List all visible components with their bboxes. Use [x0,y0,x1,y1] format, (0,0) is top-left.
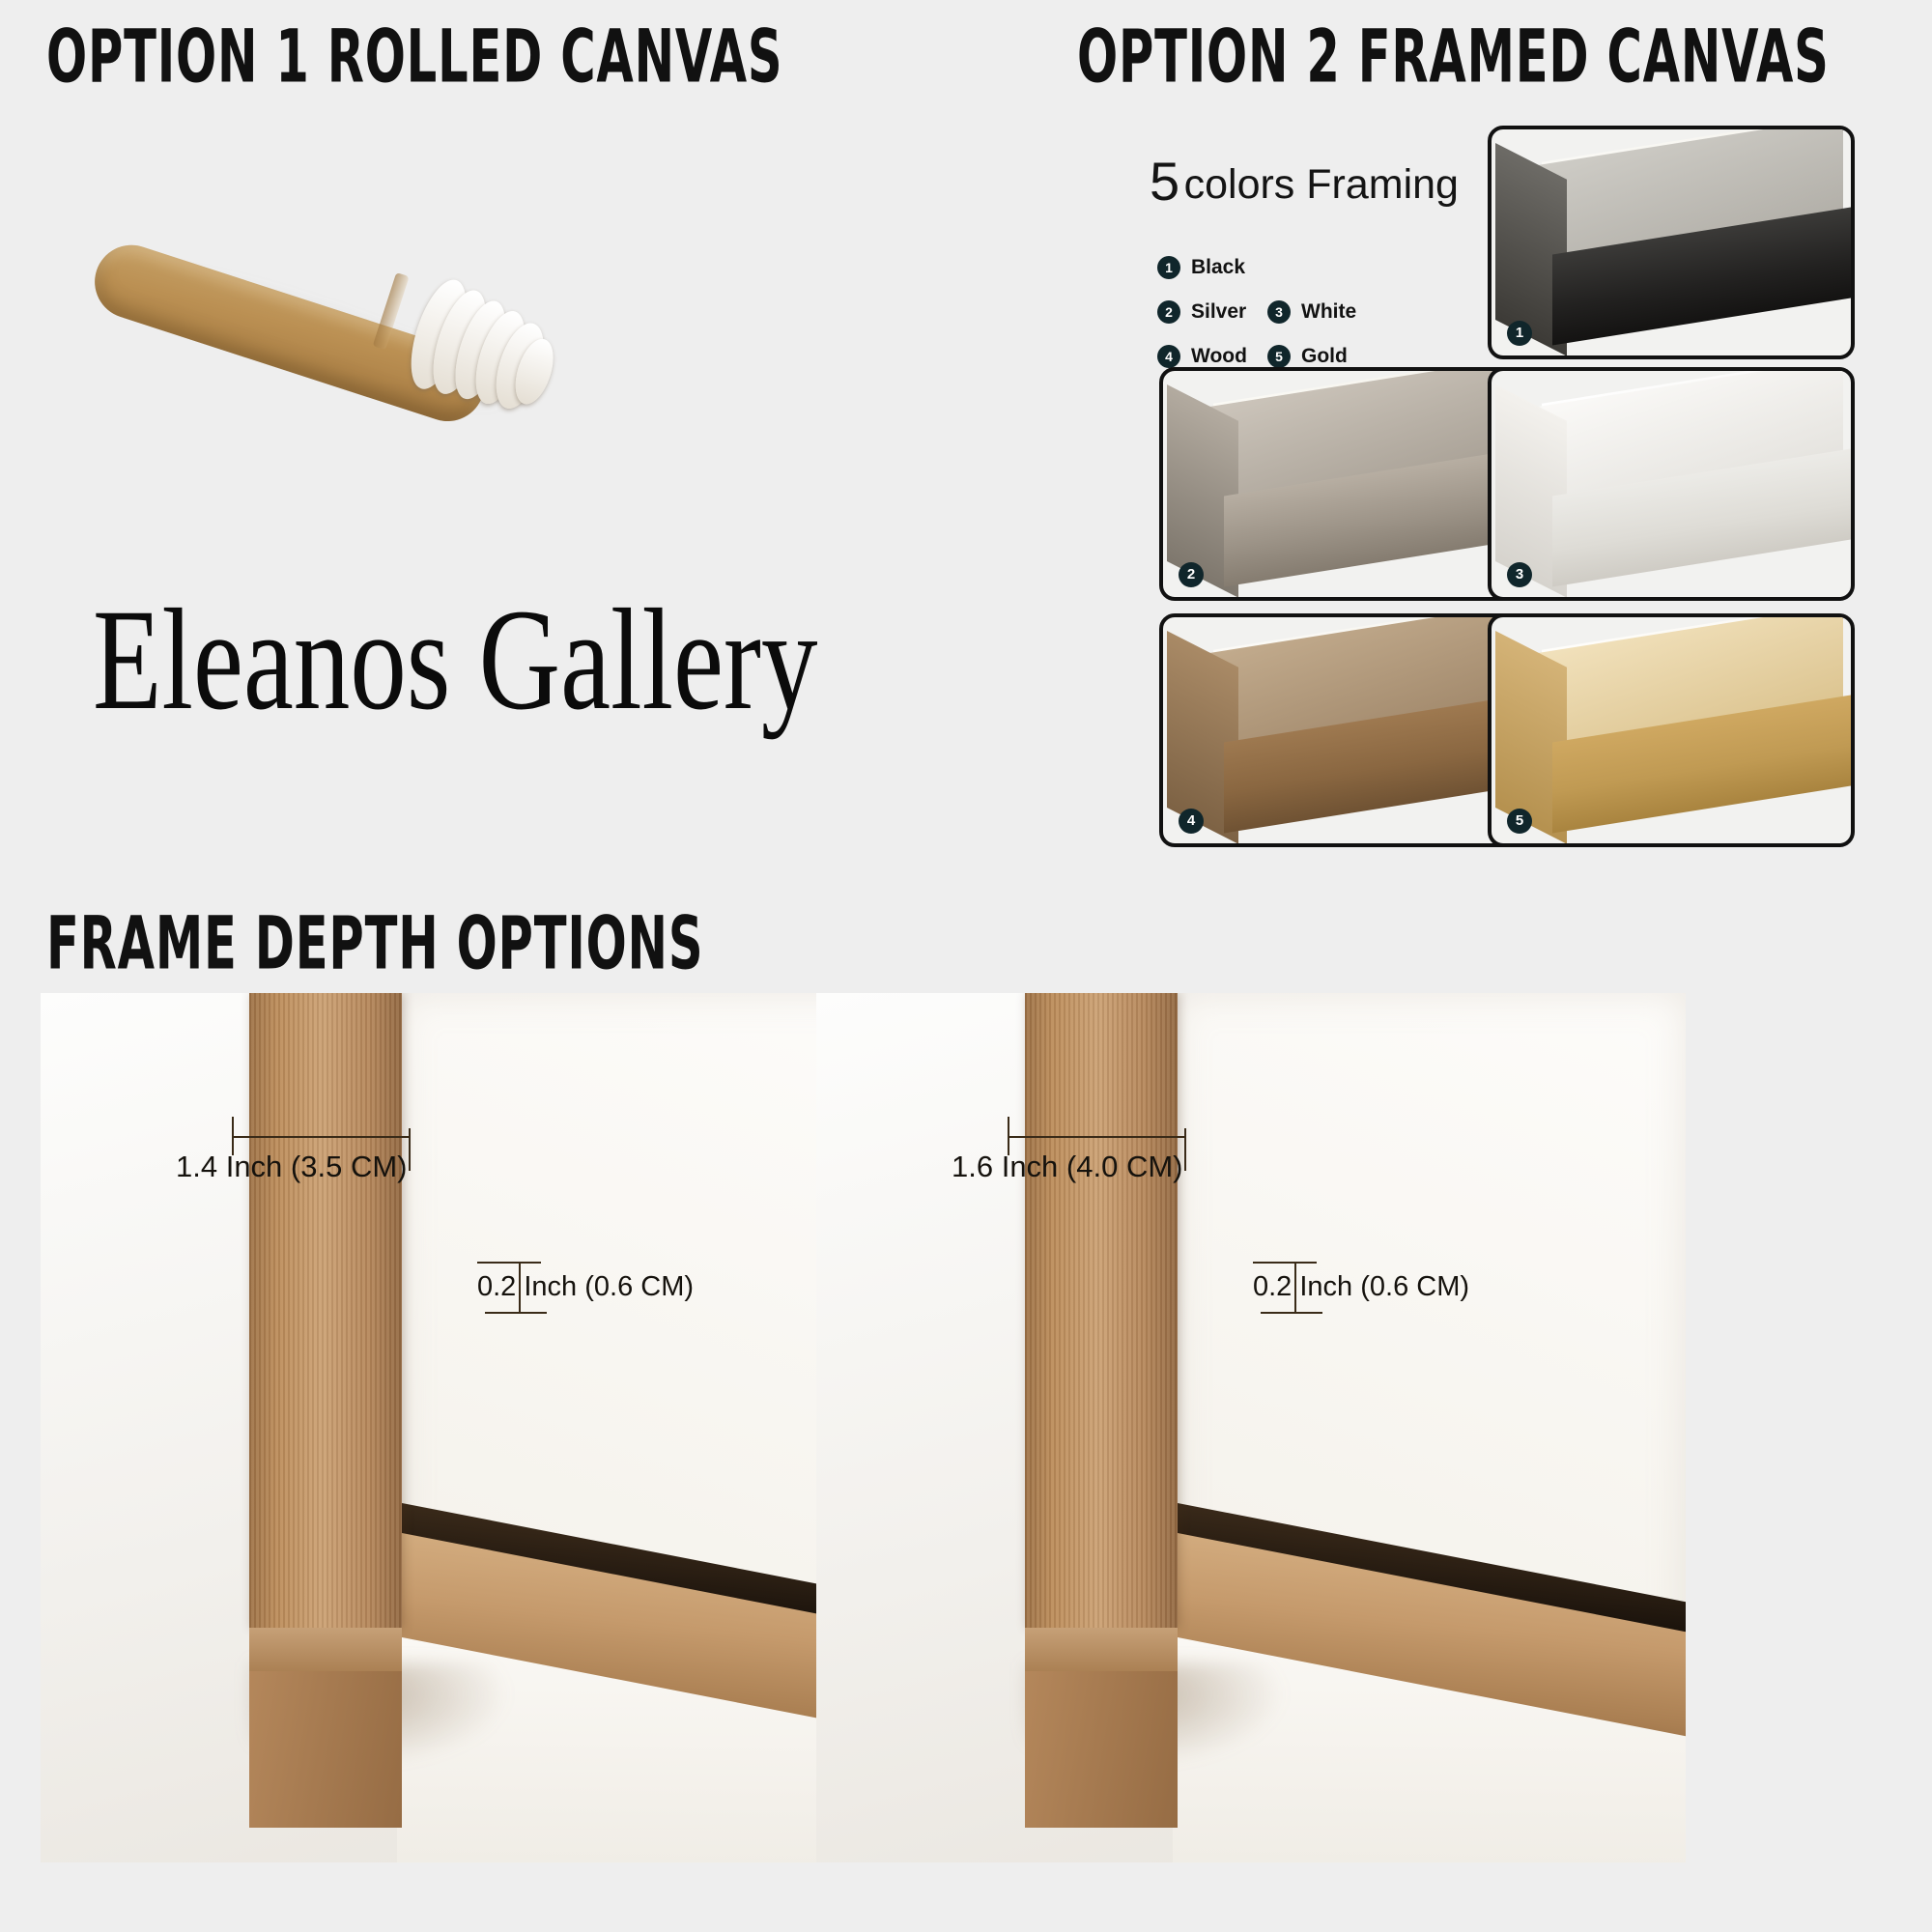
frame-swatch-white[interactable]: 3 [1488,367,1855,601]
depth-photo-left: 1.4 Inch (3.5 CM) 0.2 Inch (0.6 CM) [41,993,910,1862]
frame-corner-photo-silver [1163,371,1522,597]
legend-item-silver[interactable]: 2 Silver [1157,300,1267,324]
legend-label-silver: Silver [1191,300,1246,324]
legend-row: 4 Wood 5 Gold [1157,345,1378,368]
brand-wordmark: Eleanos Gallery [93,587,817,732]
badge-1: 1 [1157,256,1180,279]
option2-heading: OPTION 2 FRAMED CANVAS [1077,14,1830,99]
legend-item-black[interactable]: 1 Black [1157,256,1267,279]
legend-row: 2 Silver 3 White [1157,300,1378,324]
legend-label-white: White [1301,300,1356,324]
legend-label-black: Black [1191,256,1245,279]
swatch-badge-5: 5 [1507,809,1532,834]
frame-swatch-wood[interactable]: 4 [1159,613,1526,847]
legend-item-gold[interactable]: 5 Gold [1267,345,1378,368]
frame-corner-photo-gold [1492,617,1851,843]
dim-label-canvas-depth-right: 0.2 Inch (0.6 CM) [1253,1271,1469,1303]
frame-corner-photo-black [1492,129,1851,355]
dim-label-frame-width-left: 1.4 Inch (3.5 CM) [176,1150,407,1184]
framing-count: 5 [1150,151,1179,212]
frame-depth-heading: FRAME DEPTH OPTIONS [46,900,703,986]
swatch-badge-4: 4 [1179,809,1204,834]
rolled-canvas-tube-image [77,145,618,435]
legend-row: 1 Black [1157,256,1378,279]
legend-item-white[interactable]: 3 White [1267,300,1378,324]
legend-item-wood[interactable]: 4 Wood [1157,345,1267,368]
depth-photo-right: 1.6 Inch (4.0 CM) 0.2 Inch (0.6 CM) [816,993,1686,1862]
frame-corner-photo-wood [1163,617,1522,843]
framing-title-rest: colors Framing [1184,161,1459,208]
legend-label-wood: Wood [1191,345,1247,368]
option1-heading: OPTION 1 ROLLED CANVAS [46,14,782,99]
dim-label-canvas-depth-left: 0.2 Inch (0.6 CM) [477,1271,694,1303]
badge-2: 2 [1157,300,1180,324]
frame-swatch-gold[interactable]: 5 [1488,613,1855,847]
badge-4: 4 [1157,345,1180,368]
dim-label-frame-width-right: 1.6 Inch (4.0 CM) [952,1150,1182,1184]
badge-3: 3 [1267,300,1291,324]
framing-legend-title: 5 colors Framing [1150,150,1459,213]
legend-label-gold: Gold [1301,345,1348,368]
infographic-stage: OPTION 1 ROLLED CANVAS Eleanos Gallery O… [0,0,1932,1932]
swatch-badge-1: 1 [1507,321,1532,346]
frame-swatch-silver[interactable]: 2 [1159,367,1526,601]
frame-swatch-black[interactable]: 1 [1488,126,1855,359]
frame-corner-photo-white [1492,371,1851,597]
badge-5: 5 [1267,345,1291,368]
swatch-badge-2: 2 [1179,562,1204,587]
swatch-badge-3: 3 [1507,562,1532,587]
framing-swatch-grid: 5 colors Framing 1 Black 2 Silver 3 Whit… [1150,150,1903,855]
